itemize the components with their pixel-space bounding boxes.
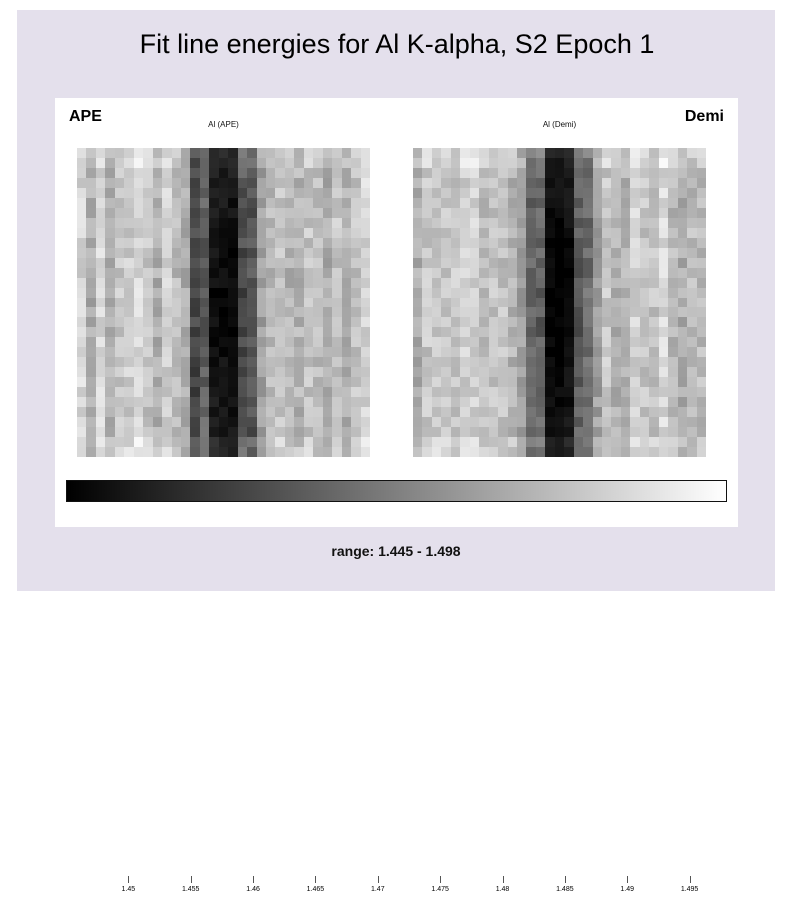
- heatmap-ape: [77, 148, 370, 457]
- colorbar-tick-label: 1.49: [620, 886, 634, 893]
- range-caption: range: 1.445 - 1.498: [17, 543, 775, 559]
- colorbar-tick: [378, 876, 379, 883]
- panel-title-ape: Al (APE): [77, 120, 370, 129]
- colorbar-tick: [503, 876, 504, 883]
- colorbar-tick-label: 1.475: [431, 886, 449, 893]
- colorbar-tick-label: 1.495: [681, 886, 699, 893]
- colorbar-tick: [627, 876, 628, 883]
- page-title: Fit line energies for Al K-alpha, S2 Epo…: [57, 28, 737, 61]
- colorbar-tick-label: 1.465: [307, 886, 325, 893]
- colorbar-tick: [128, 876, 129, 883]
- colorbar-tick-label: 1.485: [556, 886, 574, 893]
- colorbar-tick: [253, 876, 254, 883]
- colorbar-tick-label: 1.455: [182, 886, 200, 893]
- colorbar-tick-label: 1.48: [496, 886, 510, 893]
- panel-title-demi: Al (Demi): [413, 120, 706, 129]
- colorbar-ticks: [66, 862, 727, 884]
- colorbar-tick: [690, 876, 691, 883]
- colorbar-tick-labels: 1.451.4551.461.4651.471.4751.481.4851.49…: [66, 886, 727, 900]
- colorbar-tick: [191, 876, 192, 883]
- figure-card: APE Demi Al (APE) Al (Demi) 1.451.4551.4…: [55, 98, 738, 527]
- colorbar-tick: [440, 876, 441, 883]
- colorbar-gradient: [66, 480, 727, 502]
- colorbar-tick: [565, 876, 566, 883]
- colorbar-tick: [315, 876, 316, 883]
- colorbar-tick-label: 1.47: [371, 886, 385, 893]
- colorbar-wrap: 1.451.4551.461.4651.471.4751.481.4851.49…: [66, 480, 727, 502]
- colorbar-tick-label: 1.45: [122, 886, 136, 893]
- colorbar-tick-label: 1.46: [246, 886, 260, 893]
- heatmap-demi: [413, 148, 706, 457]
- slide: Fit line energies for Al K-alpha, S2 Epo…: [17, 10, 775, 591]
